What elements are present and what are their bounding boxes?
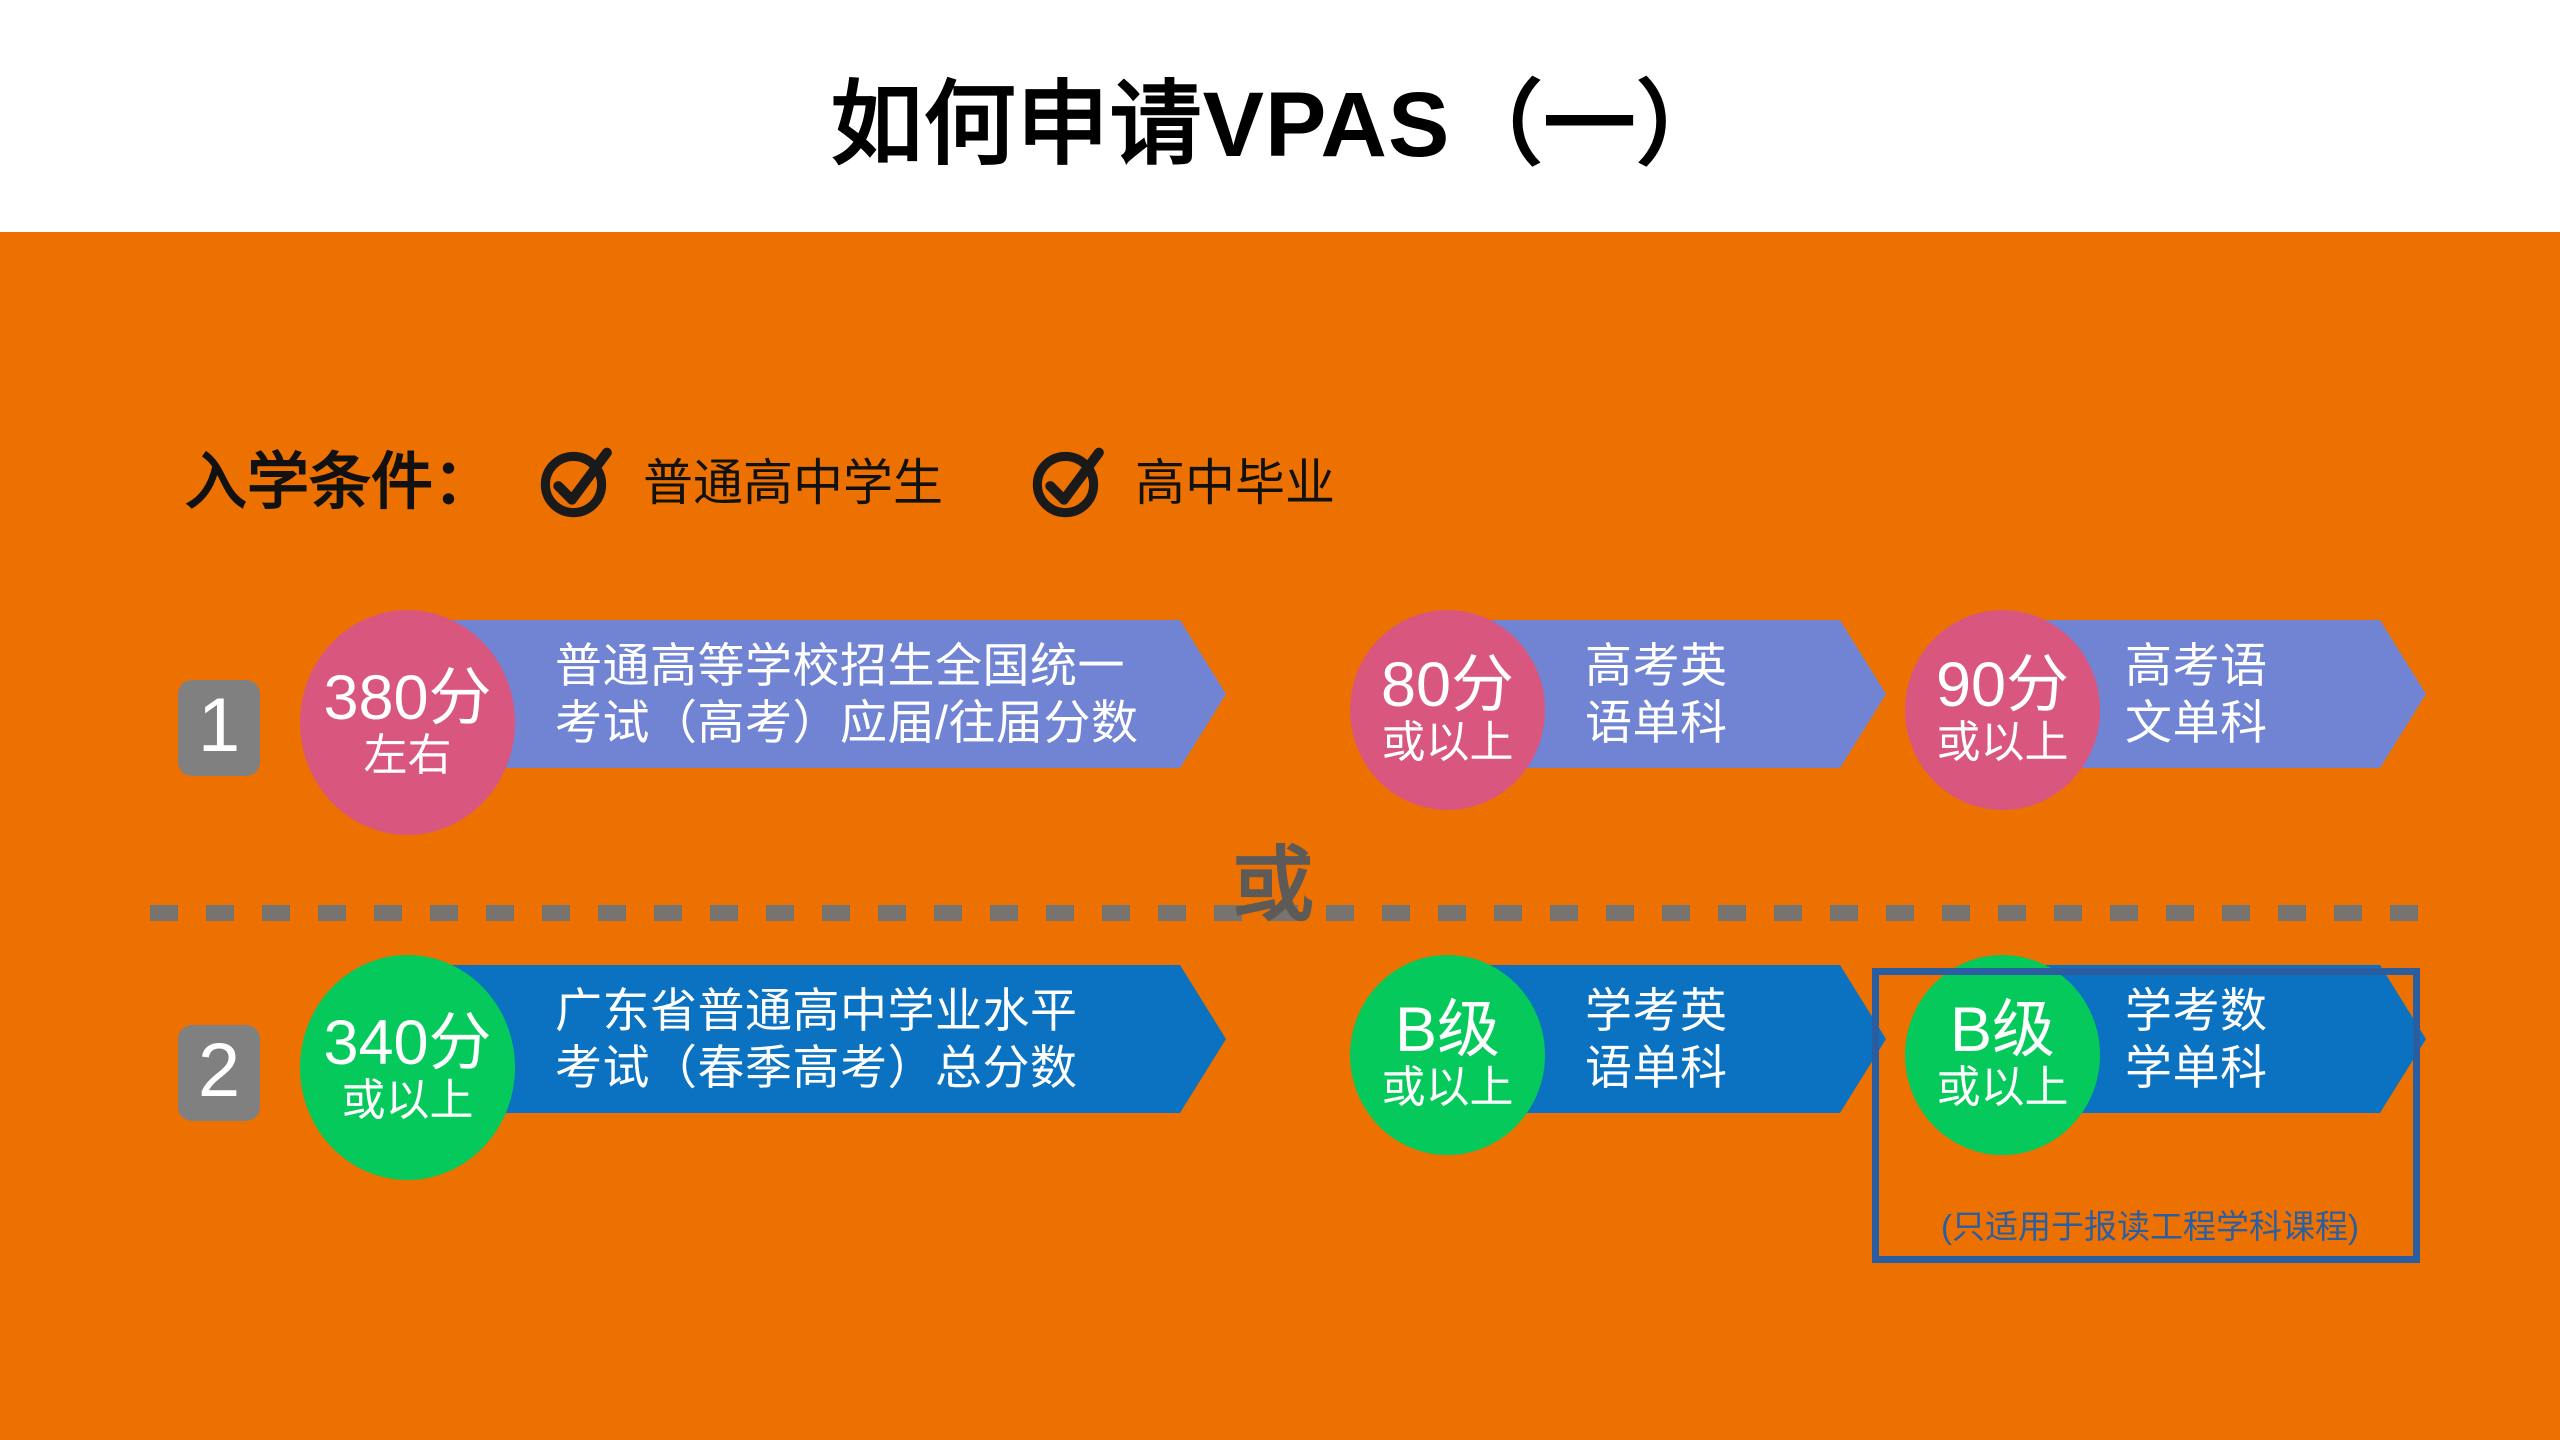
highlight-note: (只适用于报读工程学科课程) xyxy=(1890,1210,2410,1243)
condition-item-1-label: 普通高中学生 xyxy=(643,458,943,508)
criteria-circle-1-3: 90分 或以上 xyxy=(1905,610,2100,810)
criteria-banner-1-3-text: 高考语 文单科 xyxy=(2125,637,2268,752)
slide-header: 如何申请VPAS（一） xyxy=(0,0,2560,232)
criteria-banner-2-1-text: 广东省普通高中学业水平 考试（春季高考）总分数 xyxy=(555,982,1078,1097)
check-circle-icon xyxy=(537,445,613,521)
criteria-banner-1-1-text: 普通高等学校招生全国统一 考试（高考）应届/往届分数 xyxy=(555,637,1139,752)
entry-conditions-label: 入学条件： xyxy=(185,452,495,514)
criteria-banner-2-1: 广东省普通高中学业水平 考试（春季高考）总分数 xyxy=(390,965,1226,1113)
or-divider-label: 或 xyxy=(1232,845,1314,927)
condition-item-1: 普通高中学生 xyxy=(537,445,943,521)
criteria-circle-1-1-sub: 左右 xyxy=(364,732,452,780)
criteria-circle-1-1: 380分 左右 xyxy=(300,610,515,835)
criteria-banner-1-2-text: 高考英 语单科 xyxy=(1585,637,1728,752)
criteria-circle-2-1-sub: 或以上 xyxy=(342,1077,474,1125)
check-circle-icon xyxy=(1029,445,1105,521)
criteria-circle-2-2-main: B级 xyxy=(1395,998,1500,1062)
criteria-circle-2-2: B级 或以上 xyxy=(1350,955,1545,1155)
criteria-circle-2-2-sub: 或以上 xyxy=(1382,1064,1514,1112)
criteria-circle-1-3-sub: 或以上 xyxy=(1937,719,2069,767)
banner-arrow-icon xyxy=(2380,620,2426,768)
criteria-banner-1-1: 普通高等学校招生全国统一 考试（高考）应届/往届分数 xyxy=(390,620,1226,768)
step-badge-2-label: 2 xyxy=(198,1033,240,1109)
entry-conditions: 入学条件： 普通高中学生 高中毕业 xyxy=(185,435,1335,531)
banner-arrow-icon xyxy=(1180,965,1226,1113)
criteria-circle-1-3-main: 90分 xyxy=(1936,653,2069,717)
step-badge-1-label: 1 xyxy=(198,688,240,764)
criteria-circle-2-1: 340分 或以上 xyxy=(300,955,515,1180)
criteria-circle-1-2-sub: 或以上 xyxy=(1382,719,1514,767)
page-title: 如何申请VPAS（一） xyxy=(831,79,1730,171)
banner-arrow-icon xyxy=(1180,620,1226,768)
step-badge-1: 1 xyxy=(178,680,260,776)
banner-arrow-icon xyxy=(1840,620,1886,768)
criteria-circle-1-2: 80分 或以上 xyxy=(1350,610,1545,810)
criteria-circle-1-2-main: 80分 xyxy=(1381,653,1514,717)
slide-root: 如何申请VPAS（一） 入学条件： 普通高中学生 高中毕业 xyxy=(0,0,2560,1440)
criteria-circle-2-1-main: 340分 xyxy=(323,1011,491,1075)
criteria-circle-1-1-main: 380分 xyxy=(323,666,491,730)
step-badge-2: 2 xyxy=(178,1025,260,1121)
criteria-banner-2-2-text: 学考英 语单科 xyxy=(1585,982,1728,1097)
condition-item-2-label: 高中毕业 xyxy=(1135,458,1335,508)
condition-item-2: 高中毕业 xyxy=(1029,445,1335,521)
